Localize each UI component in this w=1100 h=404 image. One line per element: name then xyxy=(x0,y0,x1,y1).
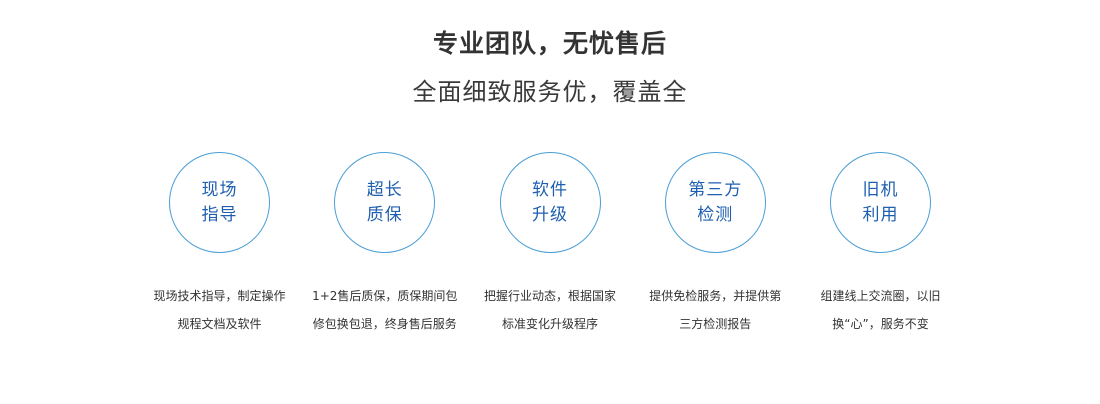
service-circle-label-line1: 旧机 xyxy=(863,178,899,203)
service-card[interactable]: 软件 升级 把握行业动态，根据国家 标准变化升级程序 xyxy=(473,152,628,338)
service-circle-badge[interactable]: 旧机 利用 xyxy=(830,152,931,253)
service-circle-label-line2: 升级 xyxy=(532,203,568,228)
service-circle-label-line2: 检测 xyxy=(697,203,733,228)
service-circle-label-line2: 利用 xyxy=(863,203,899,228)
page-subtitle: 全面细致服务优，覆盖全 xyxy=(0,60,1100,107)
service-card[interactable]: 旧机 利用 组建线上交流圈，以旧 换“心”，服务不变 xyxy=(803,152,958,338)
service-caption: 把握行业动态，根据国家 标准变化升级程序 xyxy=(470,282,630,338)
service-circle-label-line1: 第三方 xyxy=(688,178,742,203)
service-caption: 现场技术指导，制定操作 规程文档及软件 xyxy=(140,282,300,338)
service-circle-label-line2: 指导 xyxy=(202,203,238,228)
service-circle-label-line1: 软件 xyxy=(532,178,568,203)
service-caption: 提供免检服务，并提供第 三方检测报告 xyxy=(635,282,795,338)
service-circle-label-line2: 质保 xyxy=(367,203,403,228)
service-caption-line2: 标准变化升级程序 xyxy=(470,310,630,338)
service-caption-line1: 把握行业动态，根据国家 xyxy=(470,282,630,310)
service-caption-line1: 提供免检服务，并提供第 xyxy=(635,282,795,310)
service-circle-badge[interactable]: 现场 指导 xyxy=(169,152,270,253)
service-caption: 组建线上交流圈，以旧 换“心”，服务不变 xyxy=(801,282,961,338)
service-card[interactable]: 现场 指导 现场技术指导，制定操作 规程文档及软件 xyxy=(142,152,297,338)
service-card[interactable]: 第三方 检测 提供免检服务，并提供第 三方检测报告 xyxy=(638,152,793,338)
service-caption-line2: 规程文档及软件 xyxy=(140,310,300,338)
service-caption-line2: 三方检测报告 xyxy=(635,310,795,338)
service-caption-line2: 换“心”，服务不变 xyxy=(801,310,961,338)
service-caption-line1: 组建线上交流圈，以旧 xyxy=(801,282,961,310)
page-title: 专业团队，无忧售后 xyxy=(0,0,1100,60)
service-circle-badge[interactable]: 软件 升级 xyxy=(500,152,601,253)
service-caption-line1: 1+2售后质保，质保期间包 xyxy=(305,282,465,310)
service-card-list: 现场 指导 现场技术指导，制定操作 规程文档及软件 超长 质保 1+2售后质保，… xyxy=(142,152,958,338)
service-caption-line1: 现场技术指导，制定操作 xyxy=(140,282,300,310)
service-caption-line2: 修包换包退，终身售后服务 xyxy=(305,310,465,338)
service-circle-badge[interactable]: 超长 质保 xyxy=(334,152,435,253)
service-circle-badge[interactable]: 第三方 检测 xyxy=(665,152,766,253)
service-section: 专业团队，无忧售后 全面细致服务优，覆盖全 现场 指导 现场技术指导，制定操作 … xyxy=(0,0,1100,404)
service-caption: 1+2售后质保，质保期间包 修包换包退，终身售后服务 xyxy=(305,282,465,338)
service-circle-label-line1: 超长 xyxy=(367,178,403,203)
section-header: 专业团队，无忧售后 全面细致服务优，覆盖全 xyxy=(0,0,1100,107)
service-circle-label-line1: 现场 xyxy=(202,178,238,203)
service-card[interactable]: 超长 质保 1+2售后质保，质保期间包 修包换包退，终身售后服务 xyxy=(307,152,462,338)
